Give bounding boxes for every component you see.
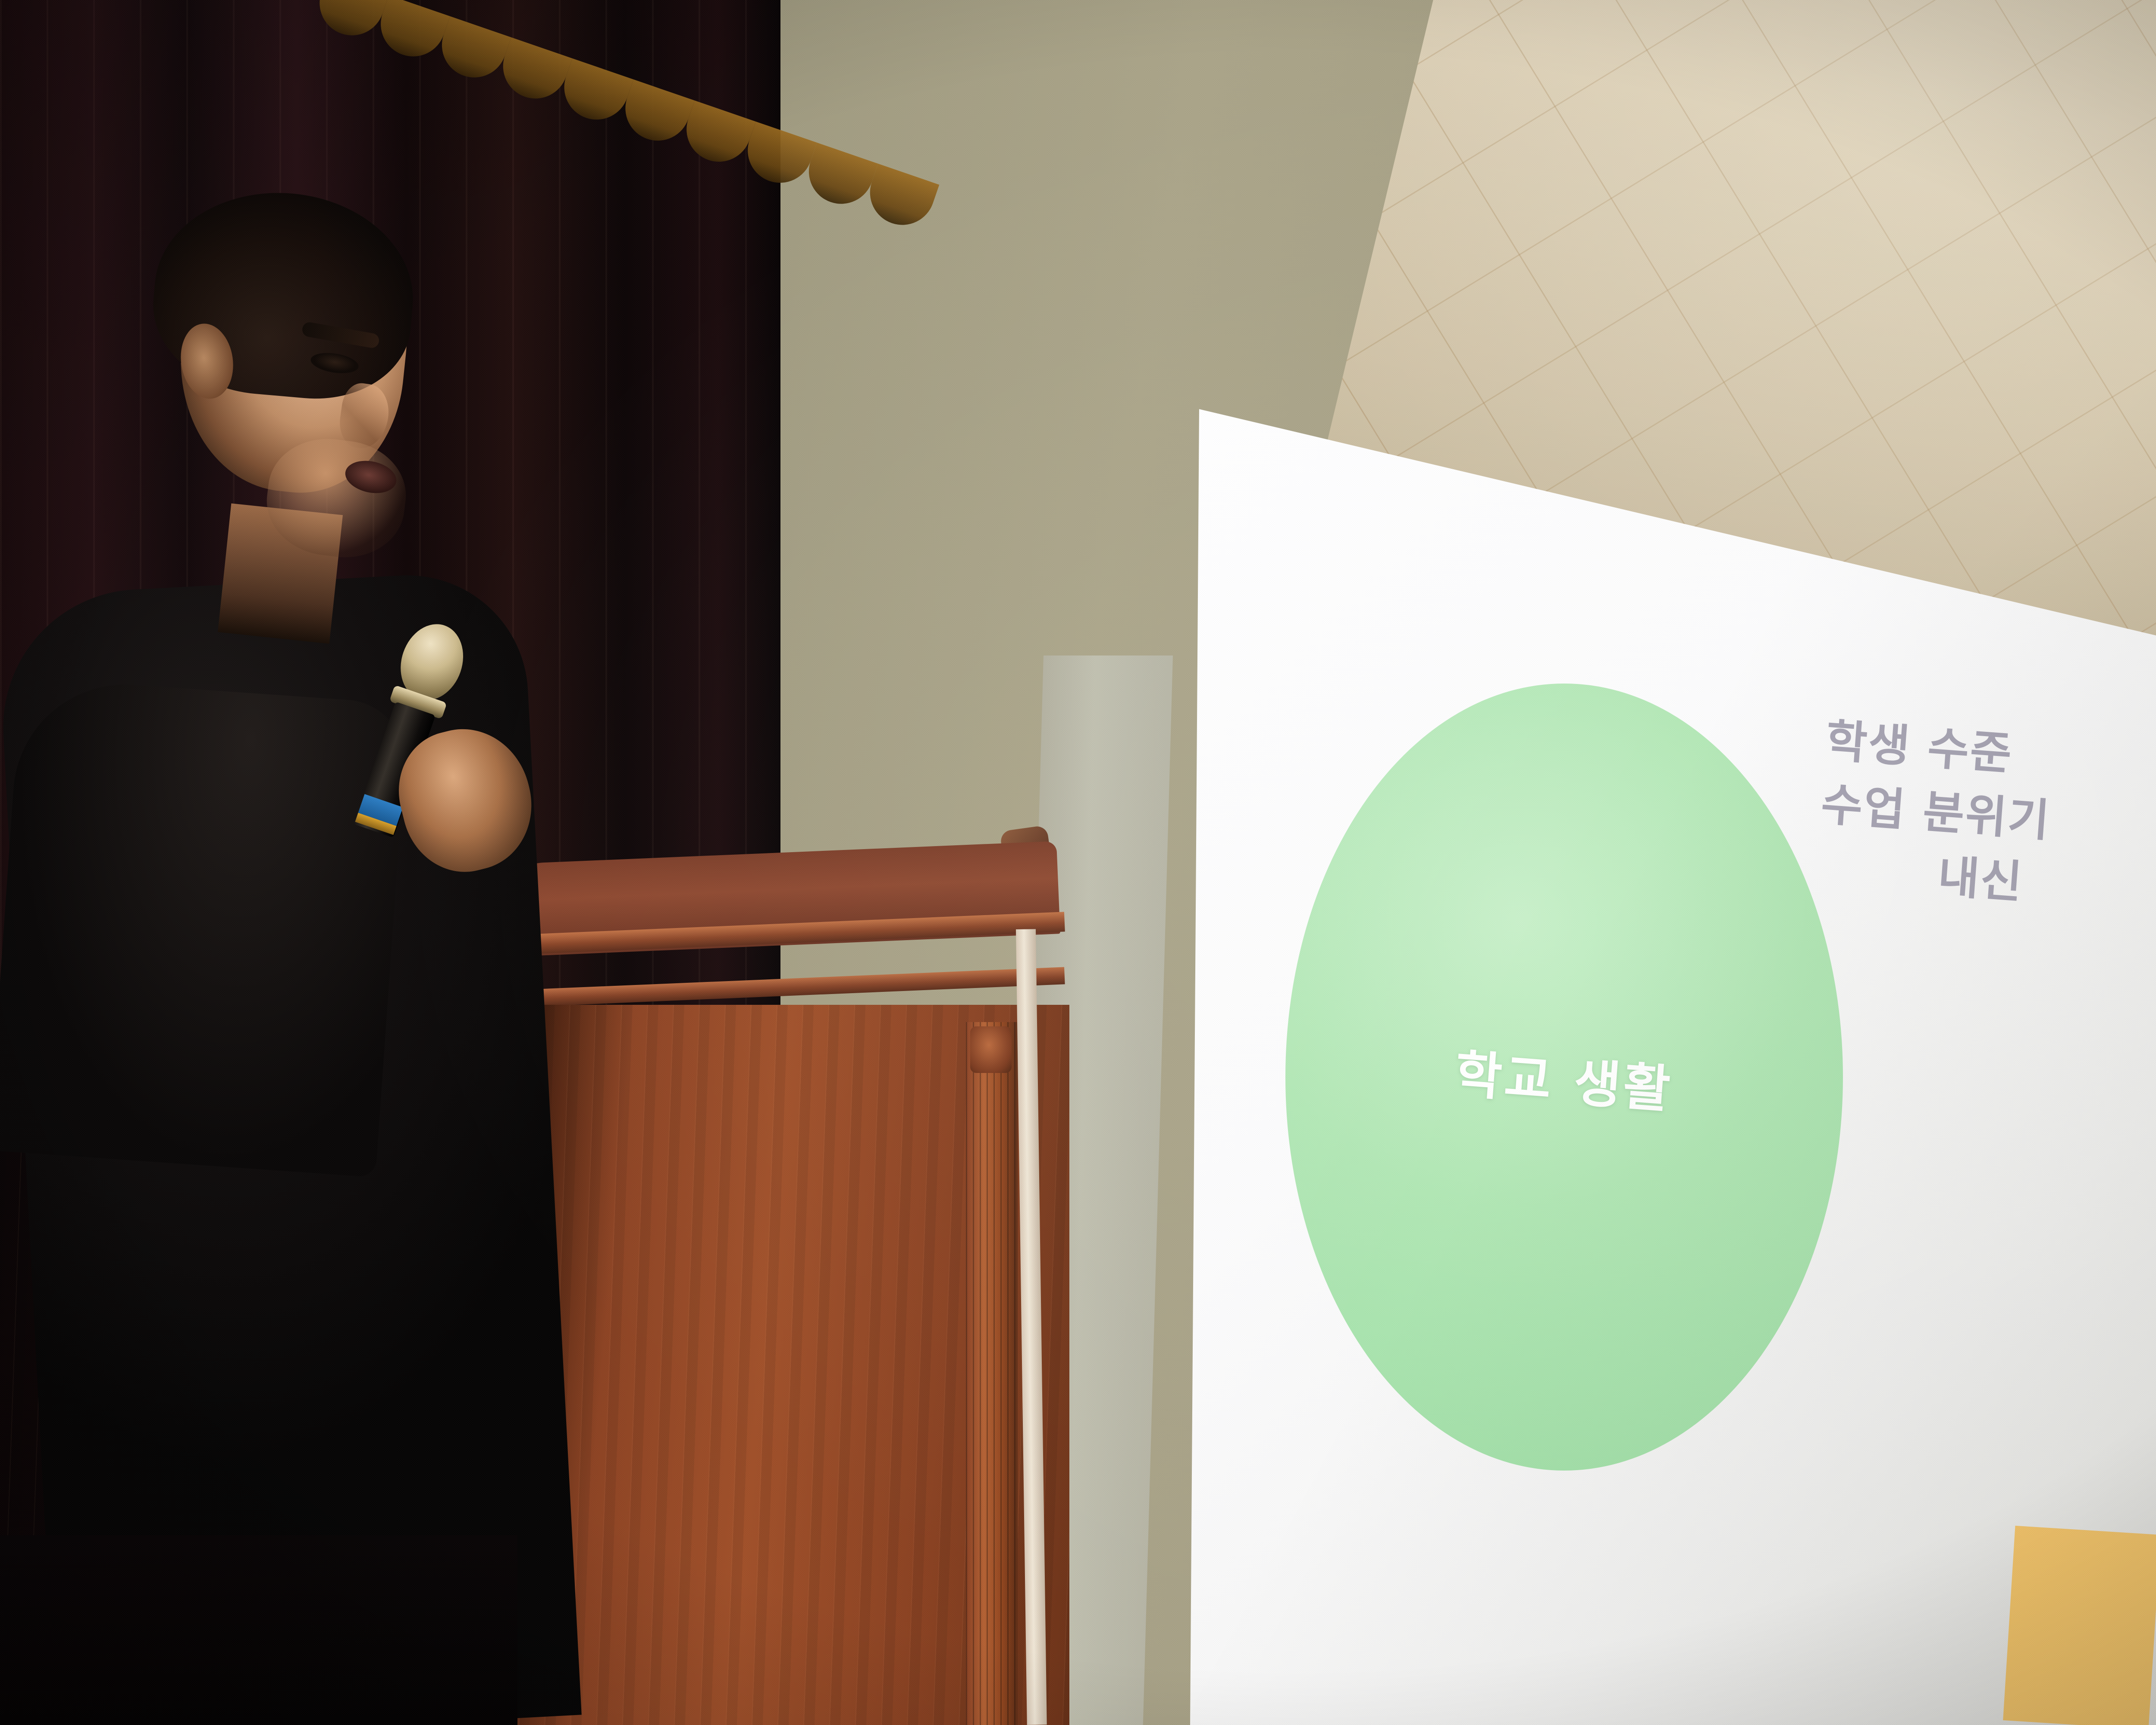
screenshot-root: 학교 생활 학생 수준 수업 분위기 내신 — [0, 0, 2156, 1725]
slide-circle-label: 학교 생활 — [1284, 1020, 1845, 1134]
slide-accent-rectangle — [2003, 1525, 2156, 1725]
presenter — [0, 181, 647, 1725]
podium-fluted-column — [966, 1022, 1018, 1725]
slide-bullet-list: 학생 수준 수업 분위기 내신 — [1814, 709, 2156, 929]
stage-floor — [0, 1535, 517, 1725]
slide-green-circle: 학교 생활 — [1285, 684, 1843, 1471]
presenter-shoulder — [0, 677, 408, 1177]
podium-rosette-ornament — [970, 1026, 1012, 1073]
